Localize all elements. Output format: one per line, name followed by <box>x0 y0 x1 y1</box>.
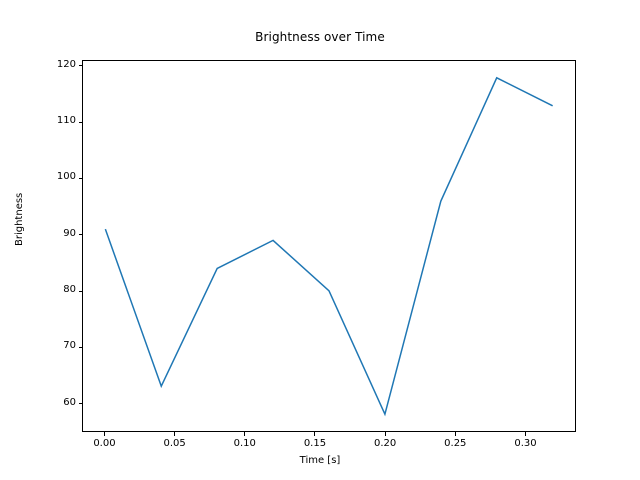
plot-area <box>82 60 576 432</box>
y-tick-label: 60 <box>36 397 76 408</box>
y-tick-label: 100 <box>36 171 76 182</box>
y-tick-label: 120 <box>36 59 76 70</box>
x-tick-mark <box>174 432 175 436</box>
x-tick-label: 0.10 <box>215 438 275 449</box>
y-tick-label: 110 <box>36 115 76 126</box>
x-tick-mark <box>455 432 456 436</box>
y-axis-label: Brightness <box>14 193 25 246</box>
x-tick-label: 0.00 <box>74 438 134 449</box>
matplotlib-figure: Brightness over Time Brightness Time [s]… <box>0 0 640 480</box>
x-tick-label: 0.25 <box>425 438 485 449</box>
y-tick-label: 80 <box>36 284 76 295</box>
x-axis-label: Time [s] <box>0 455 640 466</box>
brightness-line <box>105 78 552 414</box>
x-tick-mark <box>244 432 245 436</box>
x-tick-mark <box>385 432 386 436</box>
data-line-series <box>83 61 575 431</box>
x-tick-label: 0.20 <box>355 438 415 449</box>
x-tick-label: 0.30 <box>495 438 555 449</box>
x-tick-label: 0.05 <box>145 438 205 449</box>
x-tick-mark <box>314 432 315 436</box>
x-tick-label: 0.15 <box>285 438 345 449</box>
y-tick-label: 70 <box>36 340 76 351</box>
x-tick-mark <box>525 432 526 436</box>
chart-title: Brightness over Time <box>0 30 640 44</box>
y-tick-label: 90 <box>36 228 76 239</box>
x-tick-mark <box>104 432 105 436</box>
